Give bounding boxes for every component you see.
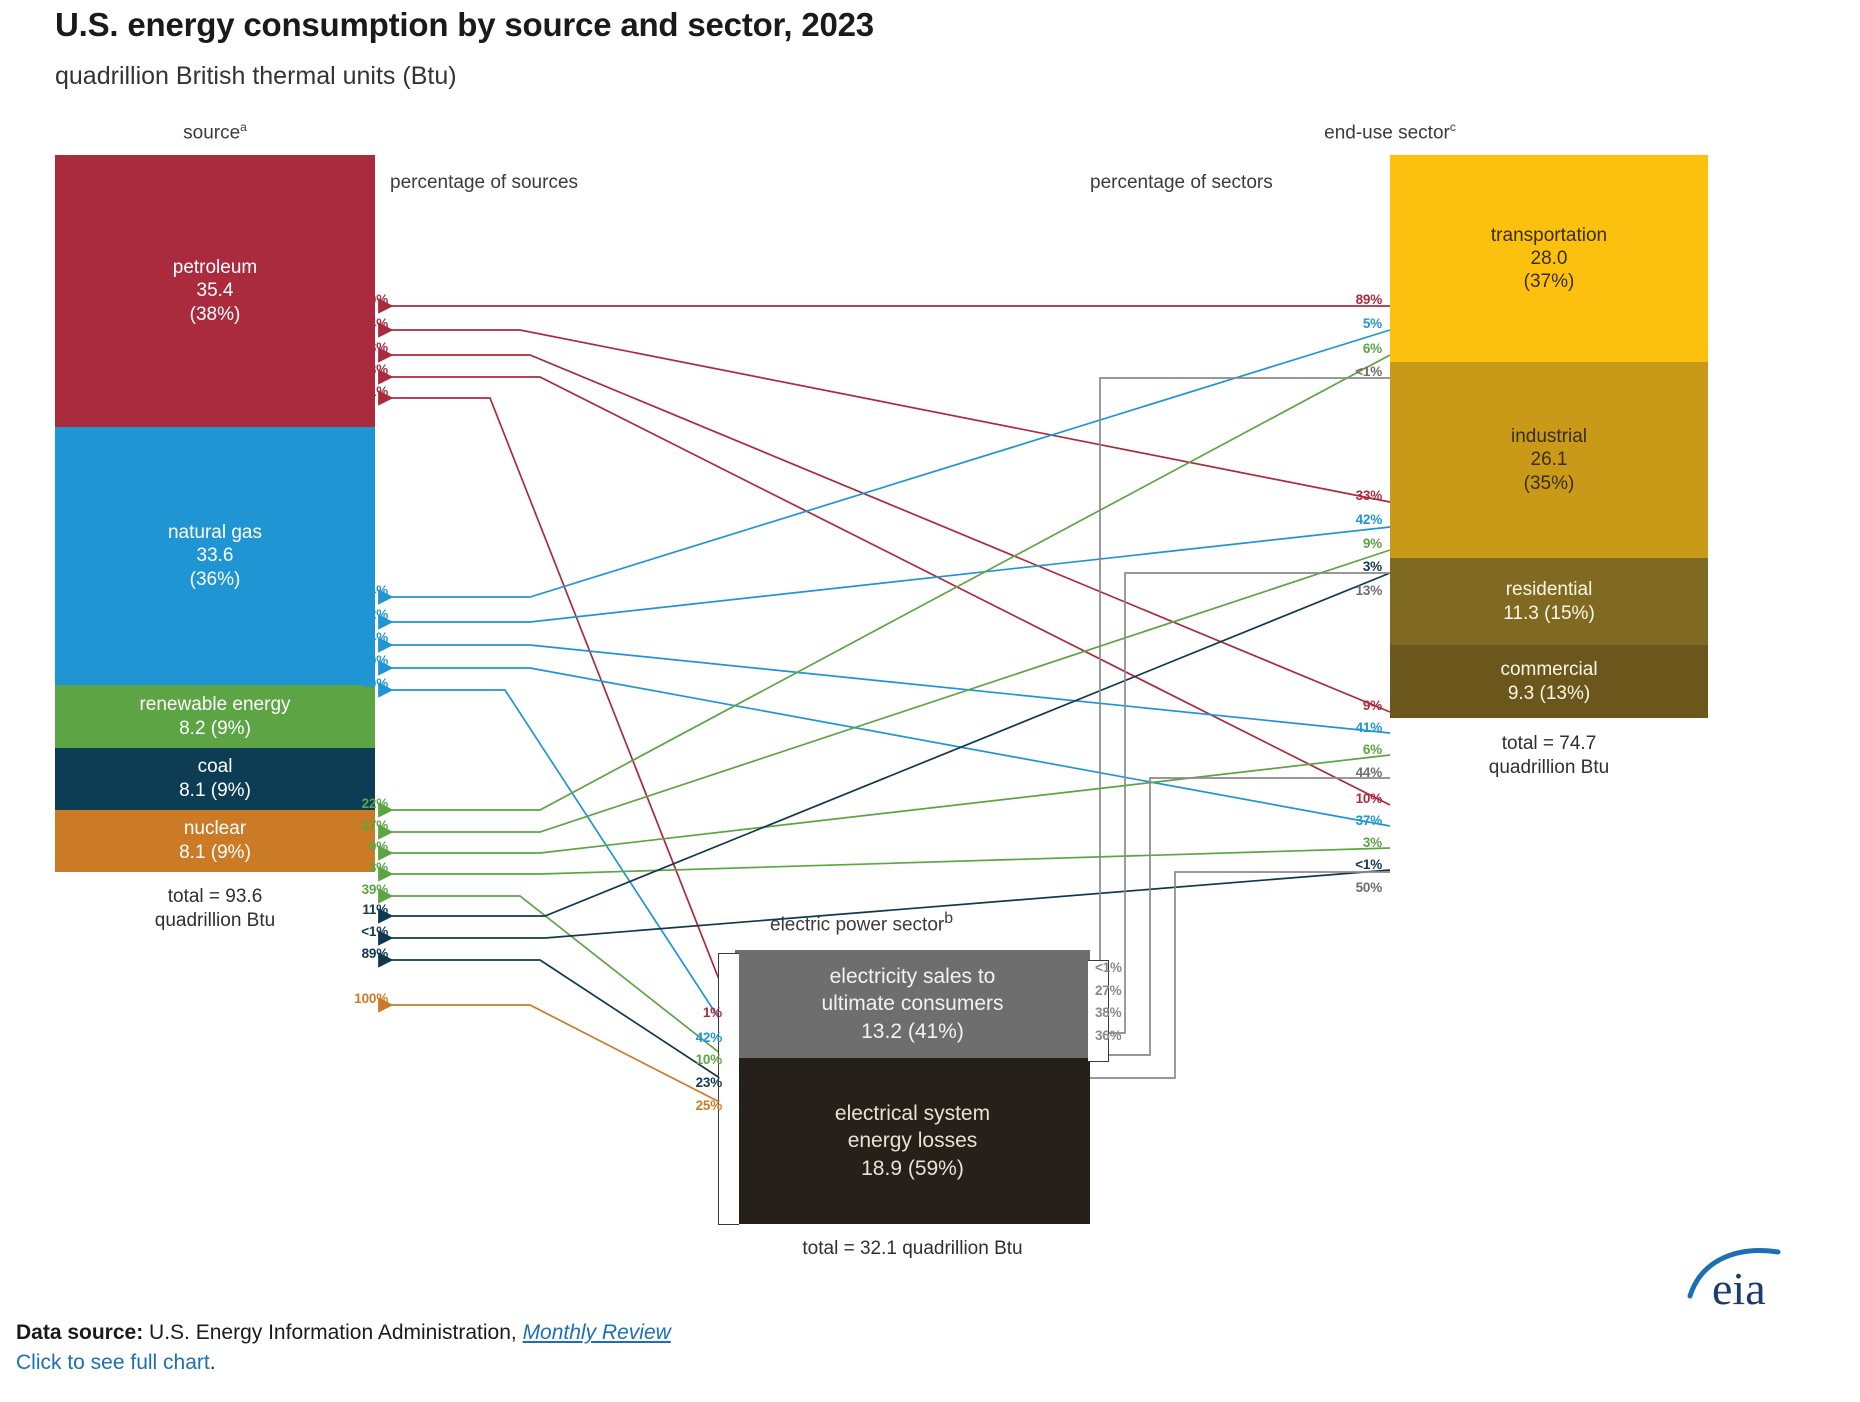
pct-electric-in-1: 1% [660, 1005, 722, 1020]
pct-transportation-4: <1% [1300, 364, 1382, 379]
pct-residential-3: 6% [1300, 742, 1382, 757]
source-total: total = 93.6 quadrillion Btu [55, 885, 375, 933]
source-label: nuclear [184, 817, 246, 841]
pct-petroleum-5: <1% [330, 384, 388, 399]
source-label: natural gas [168, 521, 262, 544]
pct-residential-1: 9% [1300, 698, 1382, 713]
pct-transportation-1: 89% [1300, 292, 1382, 307]
pct-petroleum-3: 3% [330, 340, 388, 355]
source-label: petroleum [173, 256, 258, 279]
footer-publication-link[interactable]: Monthly Review [523, 1321, 671, 1344]
source-label: renewable energy [139, 693, 290, 717]
source-node-nuclear[interactable]: nuclear 8.1 (9%) [55, 810, 375, 872]
electric-power-sales-box[interactable]: electricity sales to ultimate consumers … [735, 950, 1090, 1058]
pct-residential-2: 41% [1300, 720, 1382, 735]
source-value: 8.1 (9%) [179, 841, 251, 865]
sector-node-industrial[interactable]: industrial 26.1 (35%) [1390, 362, 1708, 558]
eia-logo: eia [1682, 1238, 1832, 1318]
source-node-renewable-energy[interactable]: renewable energy 8.2 (9%) [55, 685, 375, 748]
sector-node-transportation[interactable]: transportation 28.0 (37%) [1390, 155, 1708, 362]
pct-industrial-1: 33% [1300, 488, 1382, 503]
footer-full-chart-link[interactable]: Click to see full chart [16, 1351, 210, 1374]
sector-value: 28.0 [1531, 247, 1568, 270]
sector-total: total = 74.7 quadrillion Btu [1390, 732, 1708, 780]
footer-period: . [210, 1351, 216, 1374]
pct-natural-gas-4: 10% [330, 653, 388, 668]
source-value: 35.4 [197, 279, 234, 302]
pct-transportation-3: 6% [1300, 341, 1382, 356]
sector-label: residential [1506, 578, 1593, 602]
pct-petroleum-4: 3% [330, 362, 388, 377]
pct-commercial-5: 50% [1300, 880, 1382, 895]
sector-share: (37%) [1524, 270, 1575, 293]
source-value: 33.6 [197, 544, 234, 567]
end-use-column-header: end-use sectorc [1180, 120, 1600, 144]
pct-electric-out-4: 36% [1095, 1028, 1157, 1043]
pct-industrial-2: 42% [1300, 512, 1382, 527]
pct-electric-out-3: 38% [1095, 1005, 1157, 1020]
sector-label: industrial [1511, 425, 1587, 448]
source-label: coal [198, 755, 233, 779]
pct-renewable-2: 27% [330, 818, 388, 833]
sector-node-residential[interactable]: residential 11.3 (15%) [1390, 558, 1708, 645]
pct-electric-out-1: <1% [1095, 960, 1157, 975]
sector-value: 26.1 [1531, 448, 1568, 471]
pct-coal-3: 89% [330, 946, 388, 961]
source-share: (38%) [190, 303, 241, 326]
percentage-of-sectors-label: percentage of sectors [1090, 172, 1273, 194]
pct-industrial-3: 9% [1300, 536, 1382, 551]
source-value: 8.2 (9%) [179, 717, 251, 741]
pct-commercial-1: 10% [1300, 791, 1382, 806]
pct-renewable-3: 9% [330, 839, 388, 854]
source-node-petroleum[interactable]: petroleum 35.4 (38%) [55, 155, 375, 427]
footer-prefix: Data source: [16, 1321, 143, 1344]
pct-renewable-4: 3% [330, 860, 388, 875]
sector-label: transportation [1491, 224, 1607, 247]
pct-coal-1: 11% [330, 902, 388, 917]
sector-node-commercial[interactable]: commercial 9.3 (13%) [1390, 645, 1708, 718]
pct-electric-in-4: 23% [660, 1075, 722, 1090]
pct-natural-gas-3: 14% [330, 630, 388, 645]
source-node-natural-gas[interactable]: natural gas 33.6 (36%) [55, 427, 375, 685]
pct-natural-gas-5: 40% [330, 676, 388, 691]
sector-share: (35%) [1524, 472, 1575, 495]
electric-power-sector-label: electric power sectorb [770, 910, 953, 936]
pct-renewable-1: 22% [330, 796, 388, 811]
pct-industrial-5: 13% [1300, 583, 1382, 598]
losses-line-1: electrical system [835, 1100, 990, 1127]
pct-petroleum-1: 70% [330, 292, 388, 307]
page-title: U.S. energy consumption by source and se… [55, 6, 874, 44]
source-node-coal[interactable]: coal 8.1 (9%) [55, 748, 375, 810]
footer-agency: U.S. Energy Information Administration, [143, 1321, 522, 1344]
pct-natural-gas-2: 32% [330, 607, 388, 622]
svg-text:eia: eia [1712, 1263, 1766, 1314]
pct-electric-in-2: 42% [660, 1030, 722, 1045]
pct-electric-in-3: 10% [660, 1052, 722, 1067]
pct-coal-2: <1% [330, 924, 388, 939]
footer: Data source: U.S. Energy Information Adm… [16, 1318, 1416, 1378]
pct-electric-out-2: 27% [1095, 983, 1157, 998]
percentage-of-sources-label: percentage of sources [390, 172, 578, 194]
pct-industrial-4: 3% [1300, 559, 1382, 574]
pct-commercial-4: <1% [1300, 857, 1382, 872]
sales-line-2: ultimate consumers [821, 990, 1003, 1017]
sector-value: 11.3 (15%) [1503, 602, 1595, 626]
electric-power-losses-box[interactable]: electrical system energy losses 18.9 (59… [735, 1058, 1090, 1224]
pct-natural-gas-1: 4% [330, 583, 388, 598]
pct-petroleum-2: 24% [330, 316, 388, 331]
sales-value: 13.2 (41%) [861, 1018, 964, 1045]
electric-power-total: total = 32.1 quadrillion Btu [735, 1238, 1090, 1260]
pct-renewable-5: 39% [330, 882, 388, 897]
pct-commercial-2: 37% [1300, 813, 1382, 828]
sales-line-1: electricity sales to [830, 963, 996, 990]
sector-value: 9.3 (13%) [1508, 682, 1590, 706]
losses-value: 18.9 (59%) [861, 1155, 964, 1182]
sector-label: commercial [1500, 658, 1597, 682]
source-share: (36%) [190, 568, 241, 591]
pct-nuclear-1: 100% [320, 991, 388, 1006]
sankey-chart: U.S. energy consumption by source and se… [0, 0, 1860, 1402]
pct-electric-in-5: 25% [660, 1098, 722, 1113]
pct-transportation-2: 5% [1300, 316, 1382, 331]
pct-commercial-3: 3% [1300, 835, 1382, 850]
source-column-header: sourcea [55, 120, 375, 144]
page-subtitle: quadrillion British thermal units (Btu) [55, 62, 457, 91]
source-value: 8.1 (9%) [179, 779, 251, 803]
pct-residential-4: 44% [1300, 765, 1382, 780]
losses-line-2: energy losses [848, 1127, 978, 1154]
